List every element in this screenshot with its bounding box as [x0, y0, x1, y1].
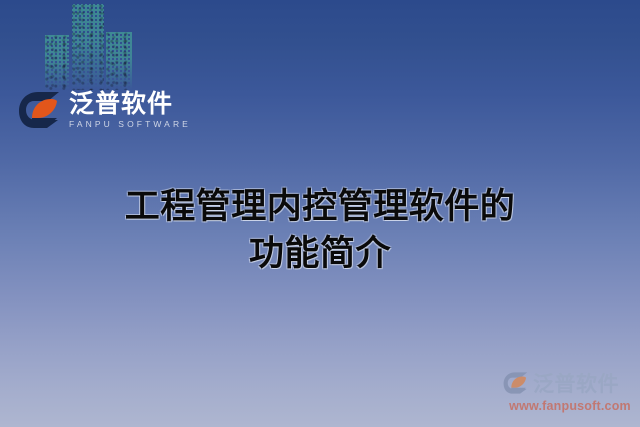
- presentation-slide: 泛普软件 FANPU SOFTWARE 工程管理内控管理软件的 功能简介 泛普软…: [0, 0, 640, 427]
- watermark-logo-mark-icon: [503, 371, 529, 395]
- watermark-logo-row: 泛普软件: [503, 368, 637, 398]
- brand-logo: 泛普软件 FANPU SOFTWARE: [18, 90, 191, 130]
- skyline-building-right-icon: [106, 32, 132, 90]
- slide-title-line-1: 工程管理内控管理软件的: [0, 184, 640, 231]
- slide-title: 工程管理内控管理软件的 功能简介: [0, 184, 640, 278]
- slide-title-line-2: 功能简介: [0, 231, 640, 278]
- brand-logo-text: 泛普软件 FANPU SOFTWARE: [69, 92, 191, 129]
- skyline-building-middle-icon: [72, 4, 104, 90]
- watermark: 泛普软件 www.fanpusoft.com: [503, 368, 637, 413]
- dotted-skyline-icon: [0, 0, 640, 100]
- brand-name-en: FANPU SOFTWARE: [69, 120, 191, 129]
- watermark-url: www.fanpusoft.com: [503, 399, 637, 413]
- skyline-building-left-icon: [45, 35, 69, 90]
- fanpu-logo-mark-icon: [18, 90, 62, 130]
- watermark-brand-name: 泛普软件: [533, 368, 619, 398]
- brand-name-cn: 泛普软件: [69, 92, 191, 117]
